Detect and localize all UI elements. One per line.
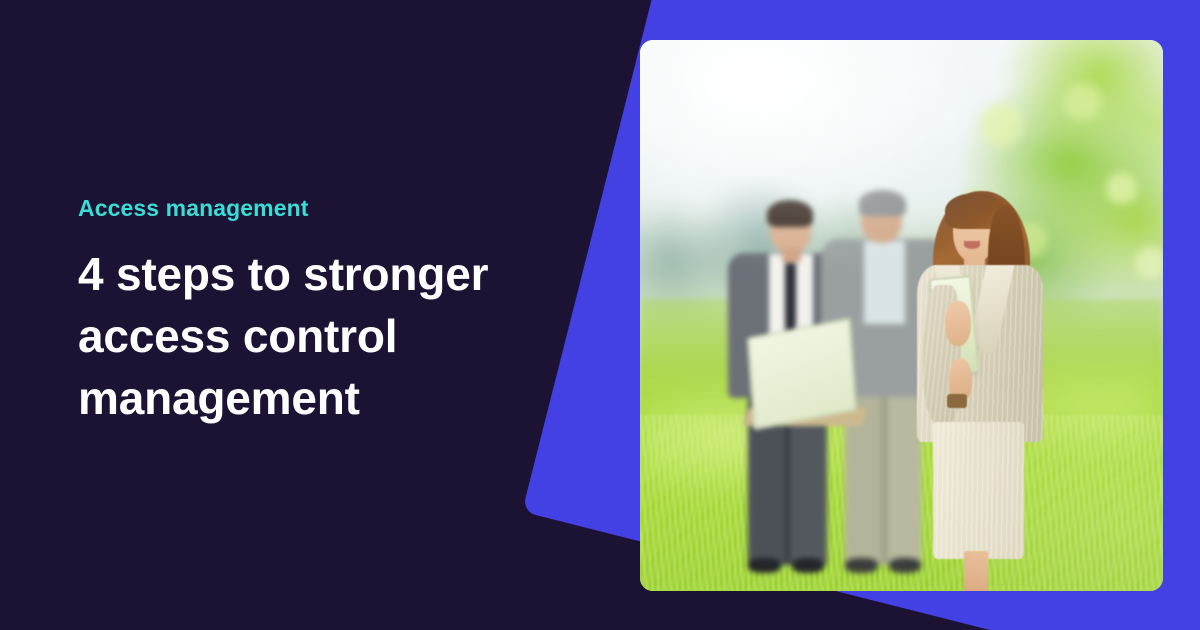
hand-upper xyxy=(945,301,970,345)
shirt xyxy=(864,241,905,323)
text-block: Access management 4 steps to stronger ac… xyxy=(78,196,548,429)
shoe-left xyxy=(748,558,781,573)
hair xyxy=(767,200,813,227)
neck xyxy=(782,247,801,262)
person-woman-foreground xyxy=(902,189,1059,591)
hero-photo-card xyxy=(640,40,1163,591)
laptop-screen xyxy=(746,317,857,430)
leg xyxy=(964,551,988,591)
promo-banner: Access management 4 steps to stronger ac… xyxy=(0,0,1200,630)
shoe-left xyxy=(845,558,878,573)
pencil-skirt xyxy=(933,422,1024,559)
wristwatch xyxy=(947,394,967,408)
eyebrow-category: Access management xyxy=(78,196,548,221)
laptop-prop xyxy=(745,327,871,437)
page-title: 4 steps to stronger access control manag… xyxy=(78,243,548,429)
hair xyxy=(859,190,907,216)
